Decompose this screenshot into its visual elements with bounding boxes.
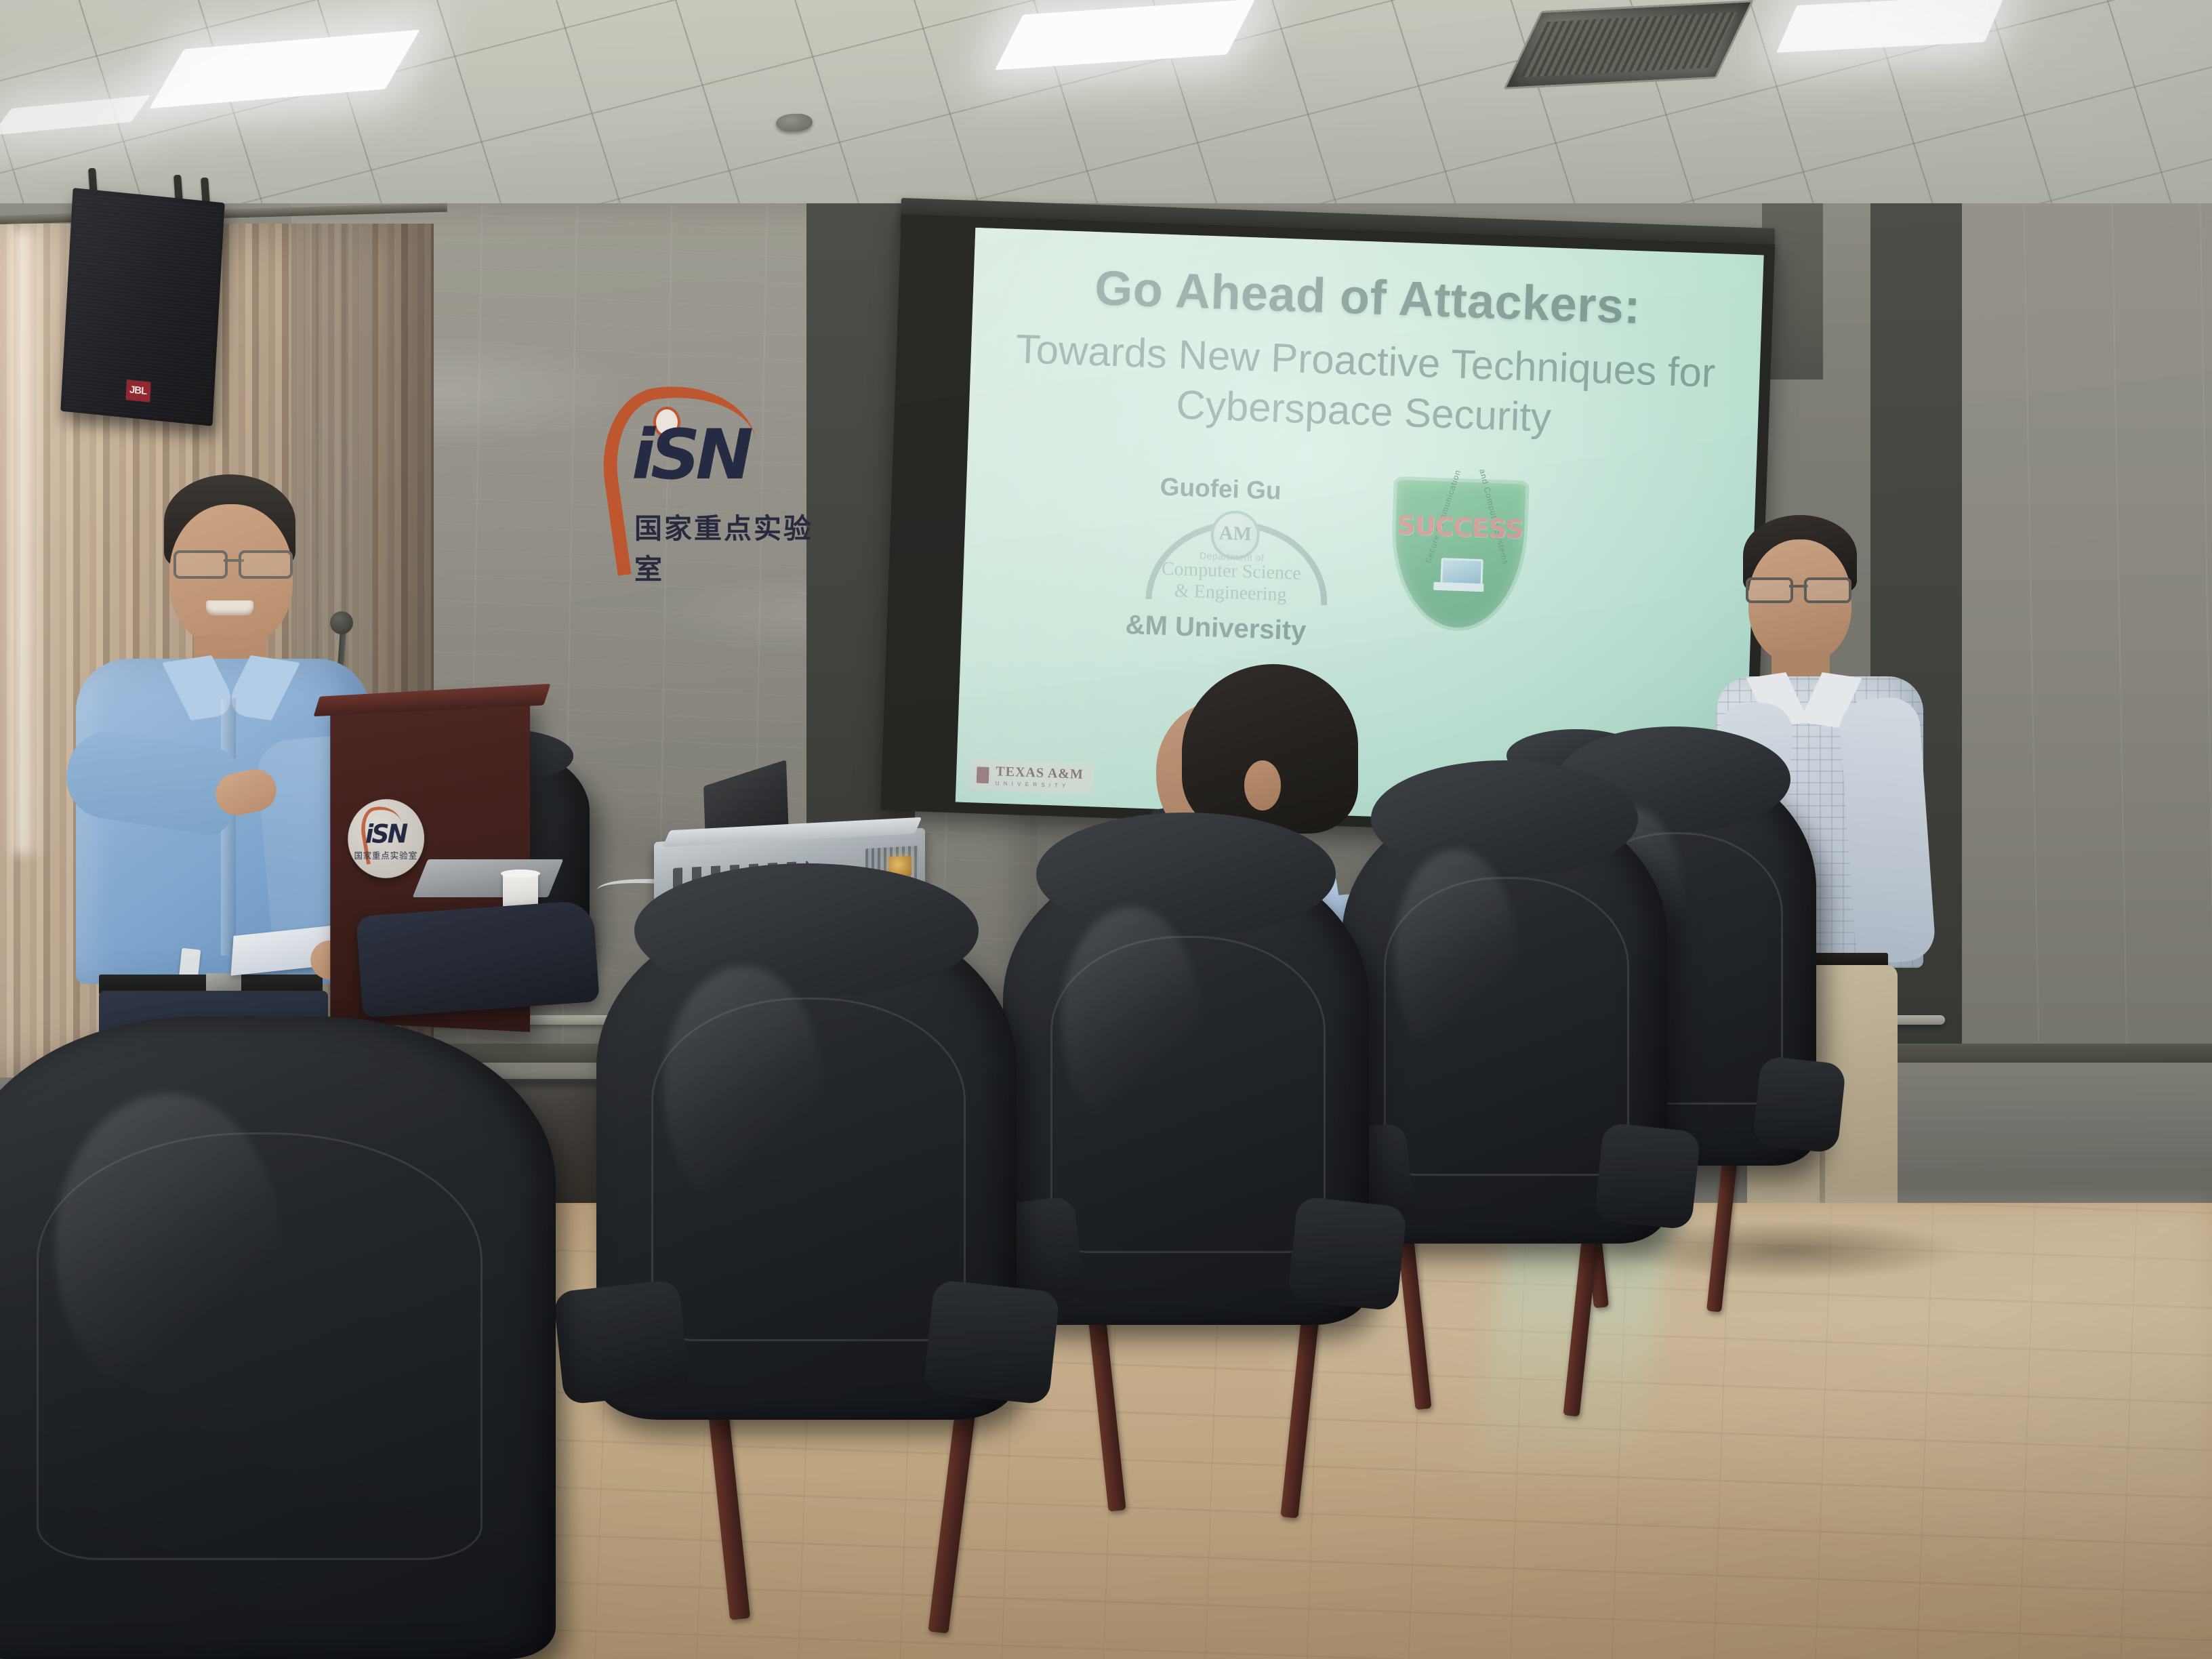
laptop-base-icon <box>1433 582 1483 592</box>
cup-rim <box>501 869 540 878</box>
lens-right <box>239 550 293 579</box>
tamu-footer-name: TEXAS A&M <box>996 764 1084 782</box>
podium-isn-emblem: iSN 国家重点实验室 <box>348 798 424 878</box>
podium-emblem-mark: iSN <box>348 819 424 849</box>
chair-sheen <box>1061 907 1200 1135</box>
slide-university-name: &M University <box>1069 608 1361 649</box>
chair-sheen <box>663 966 823 1214</box>
chair-armrest-right <box>1594 1122 1701 1230</box>
ceiling-mounted-loudspeaker: JBL <box>60 188 225 426</box>
lens-left <box>1746 577 1793 603</box>
slide-title-subtitle: Towards New Proactive Techniques for Cyb… <box>996 323 1734 449</box>
tamu-cse-logo: AM Department of Computer Science & Engi… <box>1145 504 1318 618</box>
chair-headrest <box>1036 813 1336 936</box>
conference-room-photo: 室 JBL iSN 国家重点实验室 Go Ahead of Attackers:… <box>0 0 2212 1659</box>
chair-row-1[interactable] <box>596 905 1017 1420</box>
slide-author-name: Guofei Gu <box>1075 470 1367 508</box>
podium-emblem-chinese: 国家重点实验室 <box>348 848 424 861</box>
success-lab-shield-logo: Secure Communication and Computer System… <box>1389 476 1530 634</box>
chair-armrest-right <box>923 1279 1060 1406</box>
lens-right <box>1804 577 1851 603</box>
lens-left <box>173 550 228 579</box>
ear <box>1244 760 1281 811</box>
eyeglasses-icon <box>1746 577 1851 599</box>
chair-headrest <box>634 863 979 998</box>
speaker-brand-badge: JBL <box>125 380 151 403</box>
isn-chinese-name: 国家重点实验室 <box>634 506 817 587</box>
tamu-footer-sub: U N I V E R S I T Y <box>996 780 1084 790</box>
success-wordmark: SUCCESS <box>1392 510 1528 545</box>
chair-sheen <box>1394 850 1517 1065</box>
air-conditioning-vent <box>1503 0 1754 89</box>
chair-armrest-right <box>1287 1196 1407 1311</box>
chair-sheen <box>55 1094 281 1402</box>
slide-footer-tamu-logo: TEXAS A&M U N I V E R S I T Y <box>968 759 1093 794</box>
isn-lab-wall-logo: iSN 国家重点实验室 <box>596 380 820 562</box>
isn-wordmark: iSN <box>632 420 808 491</box>
mouth <box>206 600 253 615</box>
chair-headrest <box>1371 760 1638 877</box>
laptop-icon <box>1433 558 1485 595</box>
chair-foreground[interactable] <box>0 1017 556 1659</box>
vent-slats <box>1521 12 1736 77</box>
chair-row-3[interactable] <box>1342 796 1667 1244</box>
window-light-glow <box>14 230 43 854</box>
shield-ring-text: Secure Communication and Computer System… <box>1392 490 1527 623</box>
laptop-bag <box>356 900 600 1018</box>
laptop-base[interactable] <box>413 859 564 897</box>
chair-row-2[interactable] <box>1003 851 1369 1325</box>
chair-armrest-left <box>553 1279 690 1406</box>
chair-armrest-right <box>1752 1056 1846 1153</box>
tamu-mark-icon <box>977 766 989 783</box>
eyeglasses-icon <box>172 550 294 575</box>
marble-wall-right <box>1952 203 2212 1172</box>
